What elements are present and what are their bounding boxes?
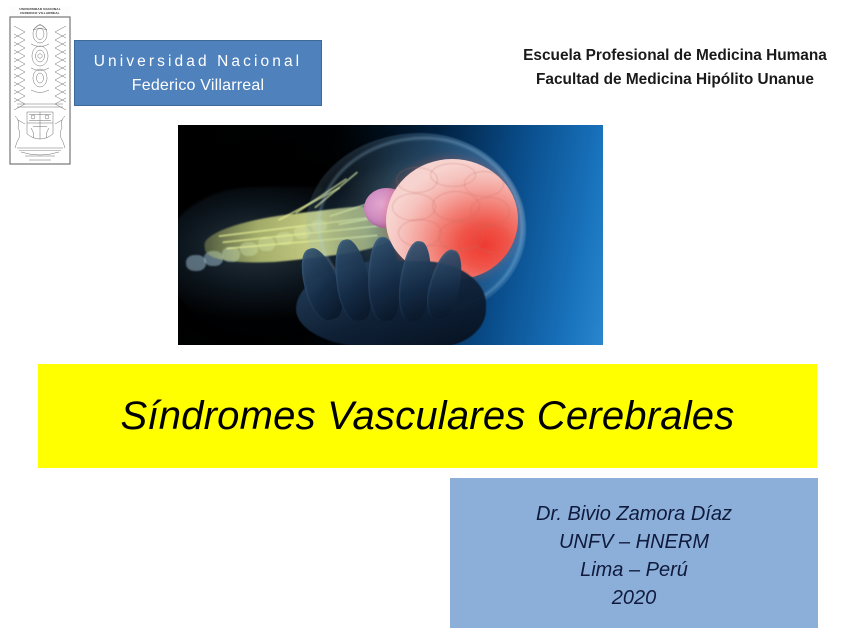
author-location: Lima – Perú xyxy=(580,556,688,584)
author-affiliation: UNFV – HNERM xyxy=(559,528,709,556)
faculty-header-line1: Escuela Profesional de Medicina Humana xyxy=(505,44,845,68)
university-name-banner: Universidad Nacional Federico Villarreal xyxy=(74,40,322,106)
brain-gyrus xyxy=(392,193,436,221)
author-year: 2020 xyxy=(612,584,657,612)
presentation-slide: UNIVERSIDAD NACIONAL FEDERICO VILLARREAL xyxy=(0,0,853,640)
title-banner: Síndromes Vasculares Cerebrales xyxy=(38,364,817,468)
brain-gyrus xyxy=(470,197,510,225)
author-info-box: Dr. Bivio Zamora Díaz UNFV – HNERM Lima … xyxy=(450,478,818,628)
crest-emblem-icon xyxy=(9,16,71,165)
university-name-line1: Universidad Nacional xyxy=(94,50,302,74)
vertebra-shape xyxy=(186,255,206,271)
brain-illustration xyxy=(178,125,603,345)
faculty-header-line2: Facultad de Medicina Hipólito Unanue xyxy=(505,68,845,92)
page-title: Síndromes Vasculares Cerebrales xyxy=(121,394,735,439)
university-name-line2: Federico Villarreal xyxy=(132,74,264,98)
author-name: Dr. Bivio Zamora Díaz xyxy=(536,500,732,528)
faculty-header: Escuela Profesional de Medicina Humana F… xyxy=(505,44,845,92)
university-crest: UNIVERSIDAD NACIONAL FEDERICO VILLARREAL xyxy=(9,7,71,165)
